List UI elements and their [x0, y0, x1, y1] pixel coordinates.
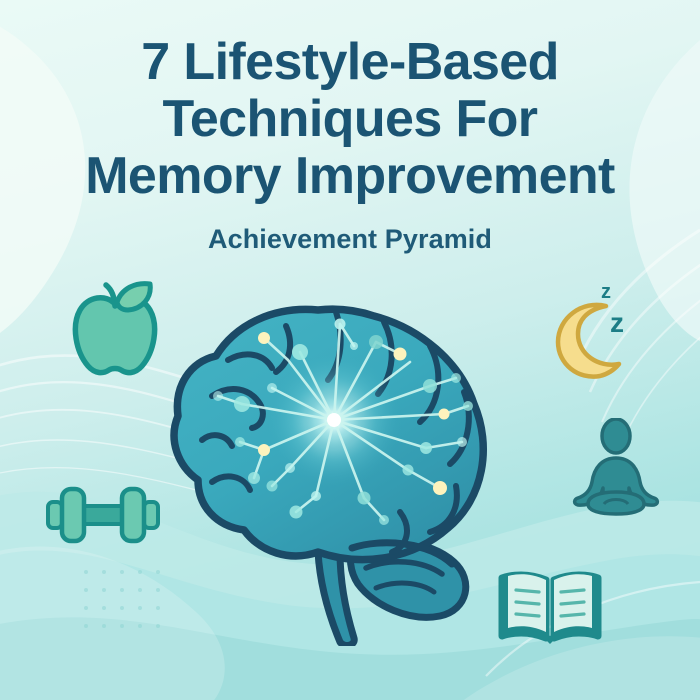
apple-icon: [62, 278, 168, 382]
moon-z-large: z: [610, 307, 624, 338]
book-icon: [496, 566, 604, 648]
dumbbell-icon: [44, 478, 162, 552]
title-block: 7 Lifestyle-Based Techniques For Memory …: [0, 34, 700, 255]
brain-icon: [168, 300, 502, 646]
page-subtitle: Achievement Pyramid: [0, 224, 700, 255]
title-line-3: Memory Improvement: [0, 148, 700, 205]
poster-canvas: 7 Lifestyle-Based Techniques For Memory …: [0, 0, 700, 700]
title-line-2: Techniques For: [0, 91, 700, 148]
moon-z-small: z: [601, 281, 611, 303]
page-title: 7 Lifestyle-Based Techniques For Memory …: [0, 34, 700, 206]
meditation-icon: [570, 418, 662, 518]
moon-icon: z z: [534, 276, 642, 382]
title-line-1: 7 Lifestyle-Based: [0, 34, 700, 91]
